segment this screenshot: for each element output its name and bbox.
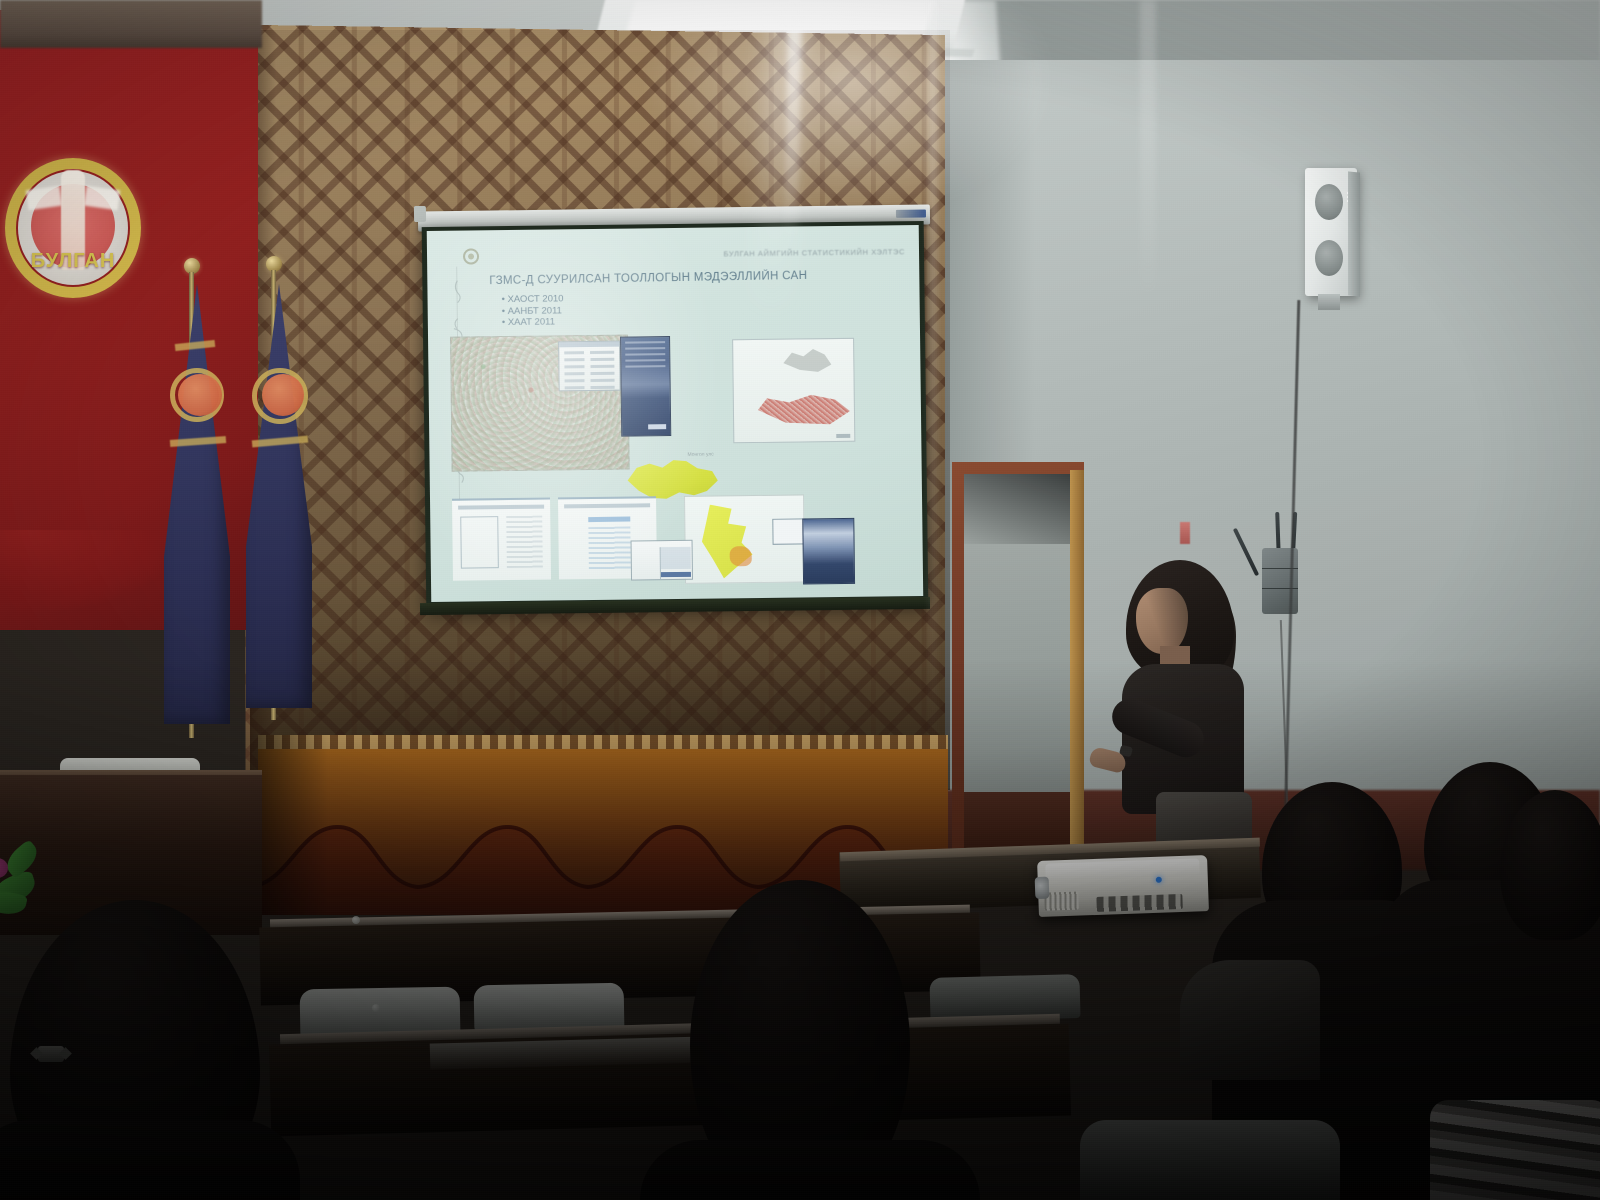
slide-title: ГЗМС-Д СУУРИЛСАН ТООЛЛОГЫН МЭДЭЭЛЛИЙН СА… — [489, 268, 899, 287]
slide-bullet-item: ХАОСТ 2010 — [502, 293, 564, 305]
doorway[interactable] — [952, 462, 1084, 862]
projector-vent-grille — [1044, 892, 1079, 911]
door-jamb — [1070, 470, 1084, 862]
slide-bullet-list: ХАОСТ 2010 ААНБТ 2011 ХААТ 2011 — [502, 293, 564, 328]
table-header — [564, 503, 650, 508]
slide-lower-dialog-screenshot — [631, 540, 693, 581]
panel-button — [648, 424, 666, 429]
panel-line — [625, 341, 665, 343]
projector-lens-icon — [1035, 877, 1050, 899]
wainscot-left-shadow — [258, 735, 328, 915]
dialog-row — [564, 358, 614, 362]
slide-region-map-thumbnail — [732, 338, 855, 443]
ceremonial-flag-right — [248, 256, 310, 726]
region-shape-south — [758, 391, 850, 428]
chair-fastener — [372, 1004, 380, 1012]
dialog-row — [565, 386, 615, 390]
chair — [474, 983, 625, 1032]
plant-leaf-icon — [1, 839, 43, 879]
flag-cloth — [246, 284, 312, 708]
potted-plant — [0, 830, 58, 920]
emblem-label: БУЛГАН — [5, 250, 141, 273]
region-shape-north — [783, 347, 831, 376]
table-box — [460, 516, 499, 568]
slide-dark-panel-screenshot — [620, 336, 671, 437]
slide-header-organization: БУЛГАН АЙМГИЙН СТАТИСТИКИЙН ХЭЛТЭС — [723, 247, 905, 258]
aimag-shape — [699, 504, 760, 579]
table-rows — [506, 516, 543, 568]
dialog-row — [564, 351, 614, 355]
table-highlight-band — [588, 517, 630, 523]
speaker-mount-bracket — [1318, 294, 1340, 310]
flag-emblem-disc — [178, 374, 222, 416]
ceremonial-flag-left — [168, 258, 228, 738]
screen-brand-label — [896, 209, 926, 217]
chair-striped-right — [1430, 1100, 1600, 1200]
chair-front-right — [1080, 1120, 1340, 1200]
slide-bullet-item: ААНБТ 2011 — [502, 305, 564, 317]
panel-line — [625, 353, 665, 355]
panel-line — [625, 365, 665, 367]
slide-map-caption: Монгол улс — [687, 452, 713, 458]
presenter-face-shadow — [1136, 588, 1188, 654]
audience-body-front-center — [640, 1140, 980, 1200]
aimag-highlight — [730, 546, 752, 566]
panel-line — [625, 359, 665, 361]
projected-slide: БУЛГАН АЙМГИЙН СТАТИСТИКИЙН ХЭЛТЭС — [427, 225, 923, 602]
dialog-footer-bar — [661, 572, 691, 577]
projector-port-panel — [1096, 894, 1182, 912]
projector[interactable] — [1037, 855, 1209, 917]
table-rows — [588, 527, 631, 572]
projection-screen: БУЛГАН АЙМГИЙН СТАТИСТИКИЙН ХЭЛТЭС — [422, 221, 929, 609]
wall-marker-icon — [1180, 522, 1190, 544]
desk-fastener — [352, 916, 360, 924]
screen-roller-end-cap — [414, 206, 426, 222]
slide-table-screenshot-left — [452, 498, 551, 581]
flag-emblem-disc — [262, 374, 304, 416]
dialog-row — [564, 365, 614, 369]
speaker-side-panel — [1348, 171, 1360, 296]
presenter — [1100, 560, 1270, 880]
dialog-row — [564, 372, 614, 376]
dialog-right-pane — [661, 547, 691, 569]
slide-bullet-item: ХААТ 2011 — [502, 316, 564, 328]
slide-dialog-screenshot — [558, 341, 621, 392]
speaker-driver-bottom-icon — [1315, 240, 1343, 276]
conference-room-photo: БУЛГАН БУЛГАН АЙМГИЙН СТАТИСТИКИЙН ХЭЛТЭ… — [0, 0, 1600, 1200]
panel-line — [625, 347, 665, 349]
projector-top-highlight — [1045, 858, 1199, 879]
audience-arm-right — [1180, 960, 1320, 1080]
flag-cloth — [164, 284, 230, 724]
slide-right-dark-panel — [802, 518, 855, 585]
audience-body-front-left — [0, 1120, 300, 1200]
bulgan-province-emblem: БУЛГАН — [5, 158, 141, 298]
hair-clip — [38, 1046, 64, 1062]
red-wall-top-trim — [0, 0, 262, 48]
dialog-left-pane — [633, 547, 661, 579]
dialog-row — [565, 379, 615, 383]
door-opening-shadow — [964, 474, 1070, 544]
table-header — [458, 505, 544, 510]
projector-power-led-icon — [1156, 877, 1162, 883]
slide-logo-icon — [463, 248, 479, 264]
thumbnail-legend — [836, 434, 850, 438]
speaker-driver-top-icon — [1315, 184, 1343, 220]
dialog-titlebar — [559, 342, 619, 348]
